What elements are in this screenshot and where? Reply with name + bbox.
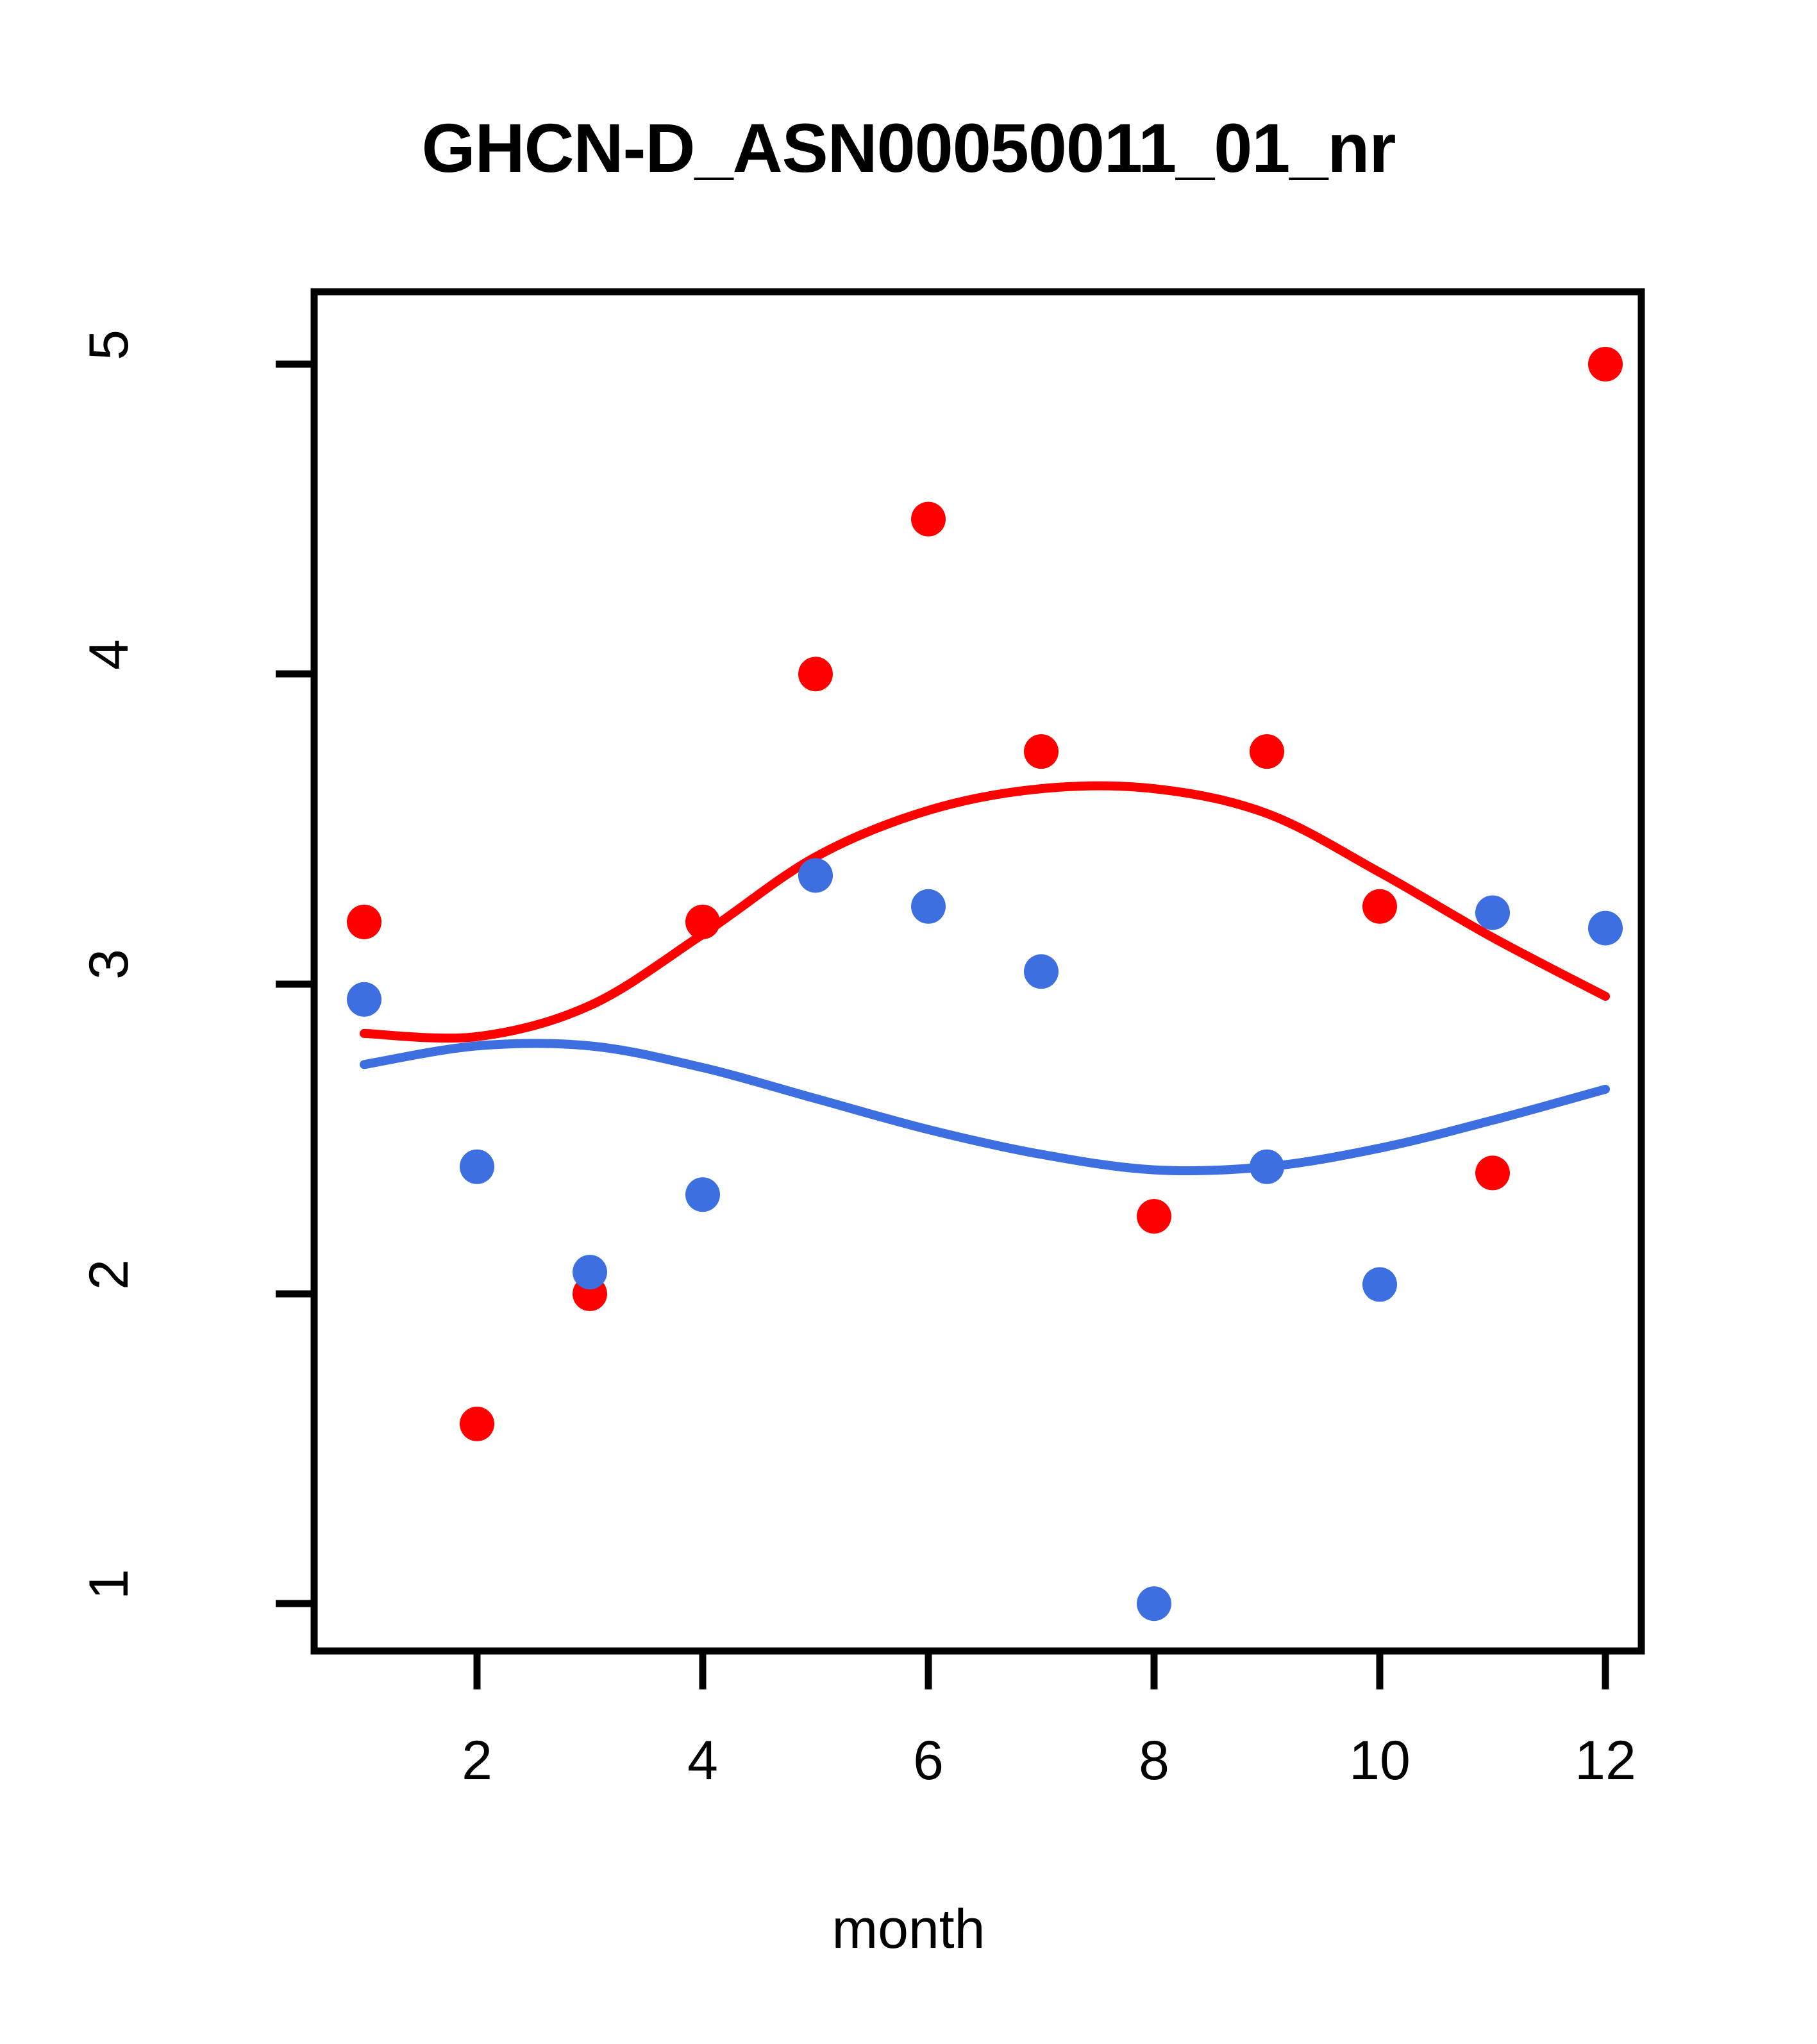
data-point <box>1362 889 1397 924</box>
data-point <box>911 889 946 924</box>
data-point <box>1137 1199 1171 1234</box>
x-axis-ticks <box>477 1651 1605 1689</box>
data-point <box>1024 734 1059 769</box>
data-point <box>1250 734 1284 769</box>
blue-smooth-line <box>364 1043 1605 1171</box>
data-point <box>1475 1155 1510 1190</box>
plot-area-svg <box>0 0 1817 2044</box>
data-point <box>911 502 946 537</box>
data-point <box>798 657 833 691</box>
plot-frame <box>314 292 1641 1651</box>
data-point <box>1475 895 1510 930</box>
red-smooth-line <box>364 786 1605 1039</box>
data-point <box>573 1255 607 1289</box>
smooth-line-layer <box>364 786 1605 1171</box>
data-point <box>460 1150 494 1184</box>
data-point <box>685 1177 720 1212</box>
data-point <box>1362 1267 1397 1302</box>
chart-canvas: GHCN-D_ASN00050011_01_nr 5 4 3 2 1 2 4 6… <box>0 0 1817 2044</box>
data-point <box>347 982 381 1017</box>
data-point <box>460 1407 494 1441</box>
data-point <box>1024 954 1059 989</box>
data-point <box>685 905 720 939</box>
data-point <box>798 858 833 892</box>
data-point <box>1250 1150 1284 1184</box>
data-point <box>1588 347 1623 381</box>
data-point <box>347 905 381 939</box>
y-axis-ticks <box>276 364 314 1604</box>
data-point <box>1588 911 1623 946</box>
data-point <box>1137 1586 1171 1621</box>
data-point-layer <box>347 347 1623 1621</box>
